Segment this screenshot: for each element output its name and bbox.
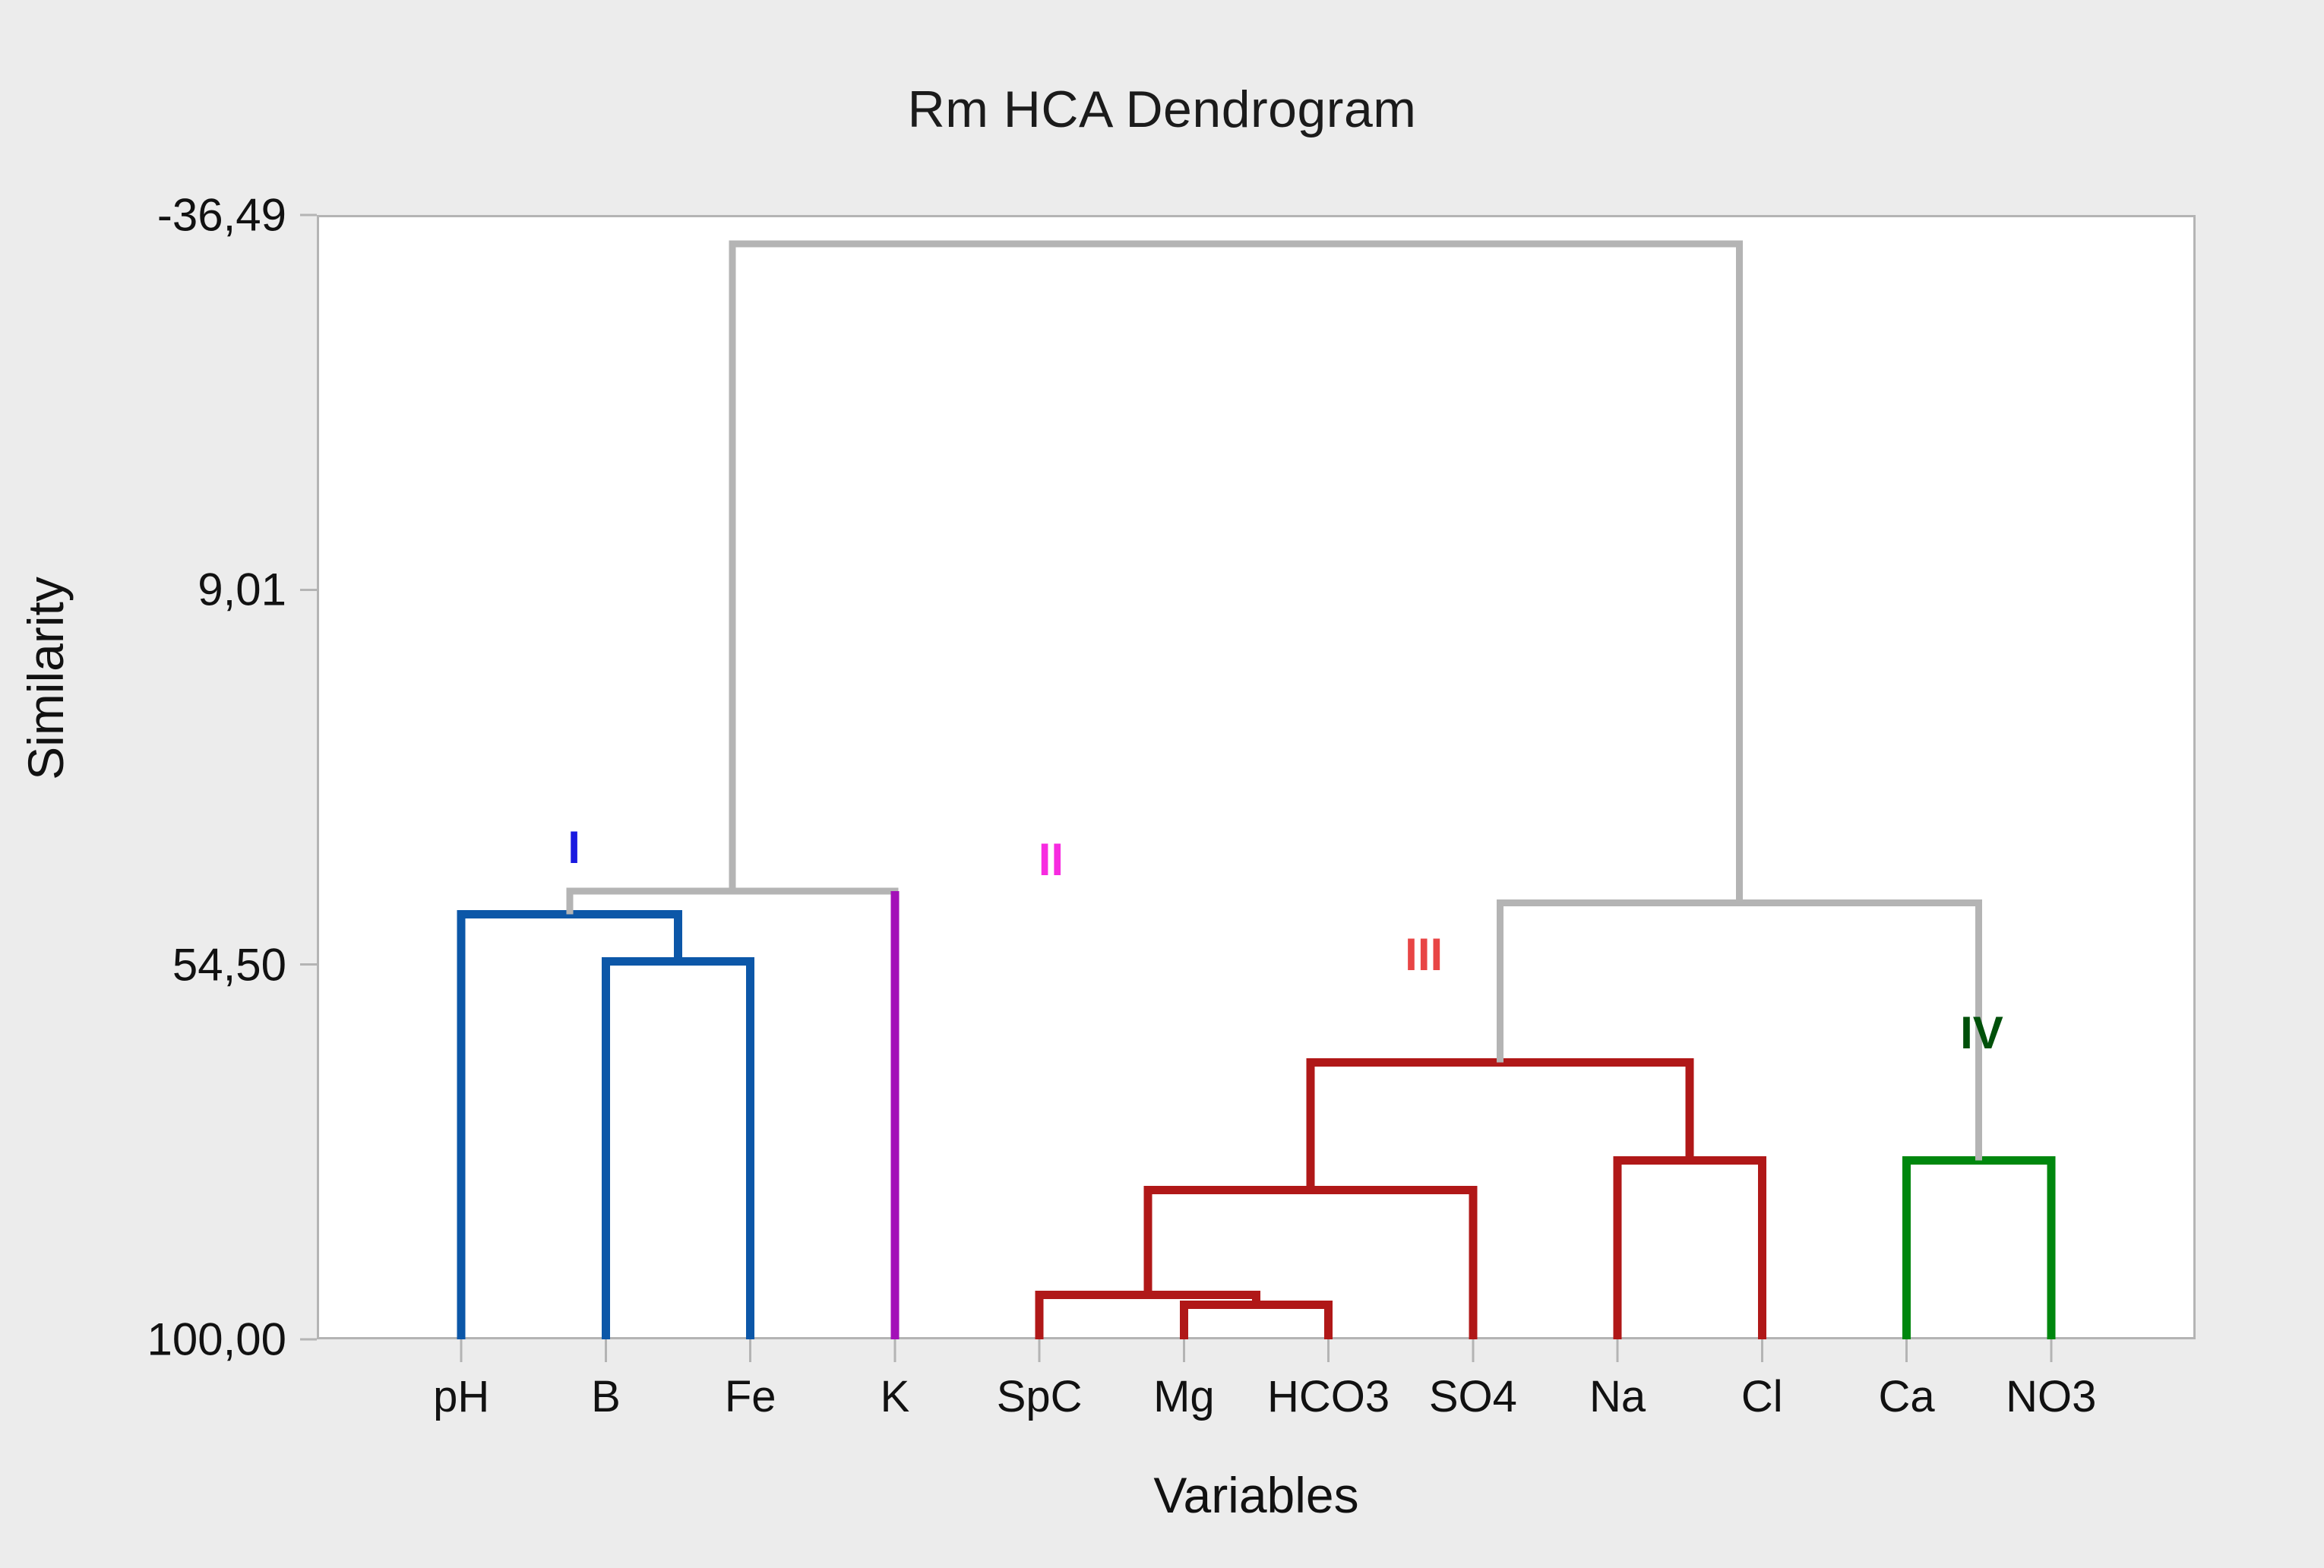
x-axis-tick-label: SO4 (1429, 1371, 1517, 1422)
x-axis-tick-label: NO3 (2006, 1371, 2096, 1422)
x-axis-tick-label: Ca (1878, 1371, 1934, 1422)
x-axis-tick-label: Mg (1153, 1371, 1215, 1422)
x-axis-tick-label: HCO3 (1267, 1371, 1390, 1422)
x-axis-tick-label: Na (1589, 1371, 1646, 1422)
x-axis-tick-label: SpC (997, 1371, 1083, 1422)
x-axis-tick-label: Fe (725, 1371, 776, 1422)
x-axis-tick-label: pH (433, 1371, 489, 1422)
cluster-label-iv: IV (1960, 1007, 2003, 1059)
y-axis-tick-label: 100,00 (0, 1314, 286, 1366)
dendrogram-canvas (0, 0, 2324, 1568)
cluster-label-i: I (568, 821, 580, 874)
y-axis-tick-label: 9,01 (0, 564, 286, 616)
x-axis-tick-label: Cl (1741, 1371, 1783, 1422)
y-axis-tick-label: 54,50 (0, 938, 286, 991)
dendrogram-figure: Rm HCA Dendrogram Similarity Variables -… (0, 0, 2324, 1568)
x-axis-tick-label: K (881, 1371, 910, 1422)
cluster-label-ii: II (1039, 833, 1064, 886)
cluster-label-iii: III (1405, 928, 1443, 981)
x-axis-tick-label: B (591, 1371, 621, 1422)
y-axis-tick-label: -36,49 (0, 189, 286, 242)
